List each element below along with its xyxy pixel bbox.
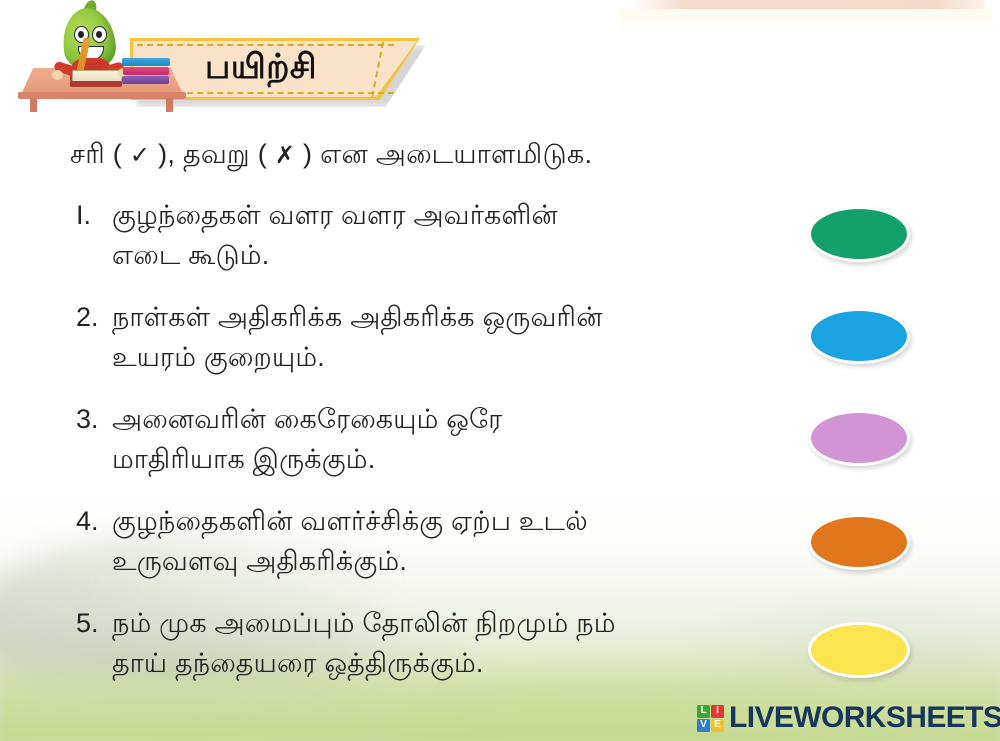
instruction-prefix: சரி ( — [70, 139, 130, 169]
question-item: 5. நம் முக அமைப்பும் தோலின் நிறமும் நம் … — [70, 604, 760, 684]
answer-oval-1[interactable] — [808, 206, 910, 262]
instruction-line: சரி ( ✓ ), தவறு ( ✗ ) என அடையாளமிடுக. — [70, 136, 770, 172]
question-number: I. — [70, 196, 112, 236]
question-text: குழந்தைகள் வளர வளர அவர்களின் எடை கூடும். — [112, 196, 760, 276]
question-line-2: உயரம் குறையும். — [112, 338, 760, 378]
worksheet-page: பயிற்சி — [0, 0, 1000, 741]
answer-oval-4[interactable] — [808, 514, 910, 570]
book-stack-icon — [122, 58, 170, 88]
book-blue — [122, 58, 170, 66]
top-accent-strip-fade — [620, 9, 992, 35]
question-number: 5. — [70, 604, 112, 644]
answer-oval-2[interactable] — [808, 308, 910, 364]
mascot-pupil-right — [96, 31, 102, 38]
top-accent-strip — [632, 0, 985, 9]
check-mark-icon: ✓ — [130, 142, 150, 169]
logo-tile-i: I — [711, 705, 724, 718]
desk-edge — [18, 92, 186, 99]
question-number: 2. — [70, 298, 112, 338]
cross-mark-icon: ✗ — [275, 142, 295, 169]
question-line-2: தாய் தந்தையரை ஒத்திருக்கும். — [112, 644, 760, 684]
question-line-1: நம் முக அமைப்பும் தோலின் நிறமும் நம் — [112, 608, 616, 638]
question-item: I. குழந்தைகள் வளர வளர அவர்களின் எடை கூடு… — [70, 196, 760, 276]
liveworksheets-watermark: L I V E LIVEWORKSHEETS — [697, 700, 1000, 736]
question-line-2: எடை கூடும். — [112, 236, 760, 276]
question-number: 4. — [70, 502, 112, 542]
question-line-2: மாதிரியாக இருக்கும். — [112, 440, 760, 480]
question-item: 2. நாள்கள் அதிகரிக்க அதிகரிக்க ஒருவரின் … — [70, 298, 760, 378]
instruction-middle: ), தவறு ( — [150, 139, 275, 169]
logo-tile-l: L — [697, 705, 710, 718]
desk-leg-left — [30, 98, 37, 112]
question-line-1: குழந்தைகள் வளர வளர அவர்களின் — [112, 200, 558, 230]
book-purple — [122, 76, 169, 84]
open-book-cover — [70, 81, 122, 87]
mascot-pupil-left — [78, 31, 84, 38]
question-text: நம் முக அமைப்பும் தோலின் நிறமும் நம் தாய… — [112, 604, 760, 684]
mascot-hand-left — [52, 70, 63, 80]
question-text: அனைவரின் கைரேகையும் ஒரே மாதிரியாக இருக்க… — [112, 400, 760, 480]
answer-oval-3[interactable] — [808, 410, 910, 466]
liveworksheets-wordmark: LIVEWORKSHEETS — [729, 703, 1000, 733]
question-item: 4. குழந்தைகளின் வளர்ச்சிக்கு ஏற்ப உடல் உ… — [70, 502, 760, 582]
question-text: நாள்கள் அதிகரிக்க அதிகரிக்க ஒருவரின் உயர… — [112, 298, 760, 378]
answer-oval-5[interactable] — [808, 622, 910, 678]
question-list: I. குழந்தைகள் வளர வளர அவர்களின் எடை கூடு… — [70, 196, 760, 706]
question-line-1: அனைவரின் கைரேகையும் ஒரே — [112, 404, 502, 434]
desk-leg-right — [166, 98, 173, 112]
question-line-1: குழந்தைகளின் வளர்ச்சிக்கு ஏற்ப உடல் — [112, 506, 588, 536]
liveworksheets-logo-icon: L I V E — [697, 705, 724, 732]
logo-tile-e: E — [711, 719, 724, 732]
instruction-suffix: ) என அடையாளமிடுக. — [295, 139, 592, 169]
book-pink — [123, 67, 169, 75]
question-item: 3. அனைவரின் கைரேகையும் ஒரே மாதிரியாக இரு… — [70, 400, 760, 480]
question-line-1: நாள்கள் அதிகரிக்க அதிகரிக்க ஒருவரின் — [112, 302, 603, 332]
question-text: குழந்தைகளின் வளர்ச்சிக்கு ஏற்ப உடல் உருவ… — [112, 502, 760, 582]
leaf-student-mascot-icon — [18, 6, 188, 111]
question-number: 3. — [70, 400, 112, 440]
logo-tile-v: V — [697, 719, 710, 732]
question-line-2: உருவளவு அதிகரிக்கும். — [112, 542, 760, 582]
answer-oval-column — [808, 202, 920, 702]
worksheet-header: பயிற்சி — [0, 0, 430, 115]
